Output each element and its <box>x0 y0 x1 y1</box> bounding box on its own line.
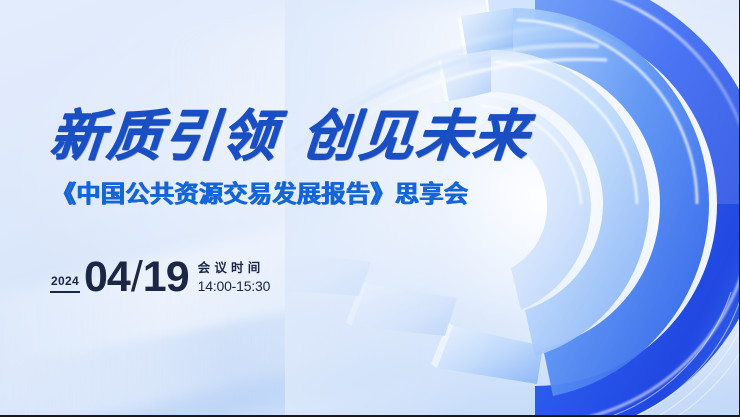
time-label: 会议时间 <box>198 261 271 277</box>
event-year: 2024 <box>51 275 79 287</box>
title-block: 新质引领创见未来 《中国公共资源交易发展报告》思享会 <box>50 108 530 209</box>
date-separator: / <box>130 253 143 301</box>
time-value: 14:00-15:30 <box>198 278 271 295</box>
time-group: 会议时间 14:00-15:30 <box>198 261 271 297</box>
event-poster: 新质引领创见未来 《中国公共资源交易发展报告》思享会 2024 04/19 会议… <box>0 0 740 417</box>
subtitle: 《中国公共资源交易发展报告》思享会 <box>52 182 530 208</box>
event-month-day: 04/19 <box>84 258 189 298</box>
main-title-part1: 新质引领 <box>47 106 280 167</box>
year-underline <box>50 291 80 293</box>
event-datetime-block: 2024 04/19 会议时间 14:00-15:30 <box>50 258 270 298</box>
main-title-part2: 创见未来 <box>299 106 532 167</box>
event-month: 04 <box>84 253 130 301</box>
event-day: 19 <box>143 253 189 301</box>
page-title: 新质引领创见未来 <box>47 108 532 166</box>
year-group: 2024 <box>50 275 80 298</box>
